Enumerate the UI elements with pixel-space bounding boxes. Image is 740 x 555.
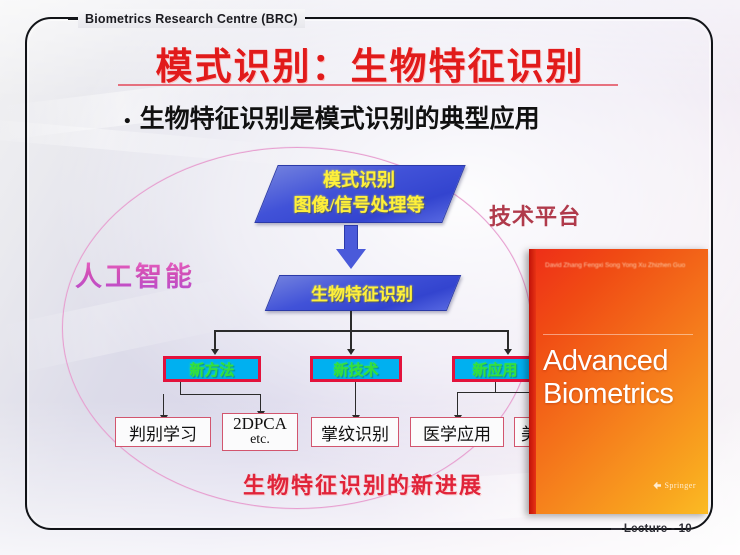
leaf-box-discriminant-learning[interactable]: 判别学习 bbox=[115, 417, 211, 447]
book-publisher-label: Springer bbox=[664, 481, 696, 490]
footer-dash bbox=[611, 528, 622, 531]
bullet-marker: • bbox=[124, 112, 131, 131]
book-authors: David Zhang Fengxi Song Yong Xu Zhizhen … bbox=[545, 261, 695, 270]
label-artificial-intelligence: 人工智能 bbox=[75, 255, 195, 294]
connector-branch bbox=[350, 330, 352, 350]
leaf-box-2dpca-label: 2DPCA bbox=[233, 416, 287, 432]
title-underline bbox=[118, 84, 618, 86]
category-box-new-applications[interactable]: 新应用 bbox=[452, 356, 538, 382]
category-box-new-technologies[interactable]: 新技术 bbox=[310, 356, 402, 382]
book-title-line2: Biometrics bbox=[543, 378, 703, 411]
connector-leaf bbox=[180, 394, 261, 395]
book-spine bbox=[529, 249, 536, 514]
connector-leaf bbox=[495, 382, 496, 392]
springer-logo-icon bbox=[653, 482, 661, 490]
label-technology-platform: 技术平台 bbox=[489, 199, 581, 231]
header-dash bbox=[68, 18, 78, 20]
page-title: 模式识别：生物特征识别 bbox=[0, 36, 740, 90]
book-title: Advanced Biometrics bbox=[543, 345, 703, 411]
bullet-line: • 生物特征识别是模式识别的典型应用 bbox=[124, 99, 664, 135]
process-node-biometrics bbox=[265, 275, 462, 311]
connector-leaf bbox=[355, 382, 356, 416]
leaf-box-2dpca[interactable]: 2DPCA etc. bbox=[222, 413, 298, 451]
connector-bus bbox=[214, 330, 508, 332]
arrowhead-icon bbox=[211, 349, 219, 355]
connector-branch bbox=[214, 330, 216, 350]
org-label: Biometrics Research Centre (BRC) bbox=[78, 9, 305, 28]
book-title-line1: Advanced bbox=[543, 345, 703, 378]
book-cover-advanced-biometrics: David Zhang Fengxi Song Yong Xu Zhizhen … bbox=[529, 249, 708, 514]
leaf-box-2dpca-sub: etc. bbox=[250, 432, 270, 448]
category-box-new-methods[interactable]: 新方法 bbox=[163, 356, 261, 382]
arrowhead-icon bbox=[347, 349, 355, 355]
connector-leaf bbox=[260, 394, 261, 412]
leaf-box-medical-application[interactable]: 医学应用 bbox=[410, 417, 504, 447]
bullet-text: 生物特征识别是模式识别的典型应用 bbox=[140, 99, 540, 135]
process-node-pattern-recognition bbox=[254, 165, 465, 223]
connector-leaf bbox=[457, 392, 458, 416]
connector-leaf bbox=[180, 382, 181, 394]
down-arrow-icon bbox=[336, 225, 366, 269]
book-publisher: Springer bbox=[653, 481, 696, 490]
footer-lecture-number: Lecture - 10 bbox=[624, 523, 692, 535]
slide-canvas: Biometrics Research Centre (BRC) 模式识别：生物… bbox=[0, 0, 740, 555]
book-divider bbox=[543, 334, 693, 335]
connector-branch bbox=[507, 330, 509, 350]
label-new-progress: 生物特征识别的新进展 bbox=[243, 468, 483, 500]
leaf-box-palmprint-recognition[interactable]: 掌纹识别 bbox=[311, 417, 399, 447]
connector-leaf bbox=[163, 394, 164, 416]
connector-trunk bbox=[350, 311, 352, 330]
arrowhead-icon bbox=[504, 349, 512, 355]
